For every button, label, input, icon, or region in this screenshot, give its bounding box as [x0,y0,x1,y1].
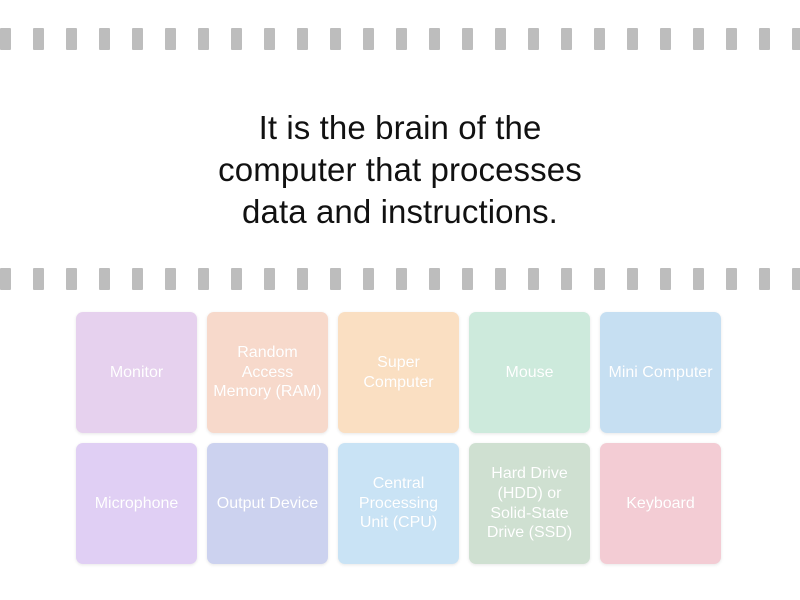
answer-tile[interactable]: Super Computer [338,312,459,433]
dash-segment [528,268,539,290]
dash-segment [33,268,44,290]
answer-tile-row-1: Monitor Random Access Memory (RAM) Super… [76,312,724,433]
dash-segment [33,28,44,50]
perforation-strip-middle [0,268,800,290]
dash-segment [627,268,638,290]
answer-tile[interactable]: Keyboard [600,443,721,564]
dash-segment [0,28,11,50]
dash-segment [363,28,374,50]
answer-tile-label: Keyboard [606,494,715,514]
answer-tile[interactable]: Output Device [207,443,328,564]
dash-segment [297,28,308,50]
answer-tile-label: Monitor [82,363,191,383]
dash-segment [330,268,341,290]
dash-segment [495,268,506,290]
dash-segment [561,28,572,50]
dash-segment [462,268,473,290]
dash-segment [693,28,704,50]
dash-segment [660,28,671,50]
dash-segment [264,268,275,290]
dash-segment [462,28,473,50]
dash-segment [66,28,77,50]
answer-tile-label: Mini Computer [606,363,715,383]
dash-segment [594,28,605,50]
answer-tile-label: Output Device [213,494,322,514]
answer-tile-label: Microphone [82,494,191,514]
dash-segment [495,28,506,50]
dash-segment [99,268,110,290]
dash-segment [165,268,176,290]
dash-segment [759,28,770,50]
dash-segment [132,268,143,290]
answer-tile[interactable]: Mini Computer [600,312,721,433]
dash-segment [198,268,209,290]
dash-segment [99,28,110,50]
dash-segment [726,268,737,290]
dash-segment [627,28,638,50]
question-prompt-text: It is the brain of the computer that pro… [190,107,610,234]
dash-segment [297,268,308,290]
dash-segment [660,268,671,290]
perforation-strip-top [0,28,800,50]
dash-segment [198,28,209,50]
answer-tile-label: Random Access Memory (RAM) [213,343,322,402]
dash-segment [231,28,242,50]
dash-segment [165,28,176,50]
dash-segment [792,28,800,50]
answer-tile-row-2: Microphone Output Device Central Process… [76,443,724,564]
dash-segment [132,28,143,50]
answer-tile-label: Super Computer [344,353,453,392]
dash-segment [0,268,11,290]
dash-segment [330,28,341,50]
answer-tile[interactable]: Central Processing Unit (CPU) [338,443,459,564]
dash-segment [66,268,77,290]
dash-segment [561,268,572,290]
answer-tile[interactable]: Monitor [76,312,197,433]
dash-segment [396,268,407,290]
answer-tile-label: Hard Drive (HDD) or Solid-State Drive (S… [475,464,584,542]
dash-segment [792,268,800,290]
dash-segment [594,268,605,290]
dash-segment [396,28,407,50]
dash-segment [264,28,275,50]
dash-segment [759,268,770,290]
dash-segment [429,268,440,290]
dash-segment [429,28,440,50]
answer-tile-board: Monitor Random Access Memory (RAM) Super… [76,312,724,564]
answer-tile[interactable]: Microphone [76,443,197,564]
dash-segment [231,268,242,290]
answer-tile[interactable]: Mouse [469,312,590,433]
answer-tile-label: Mouse [475,363,584,383]
answer-tile[interactable]: Random Access Memory (RAM) [207,312,328,433]
answer-tile-label: Central Processing Unit (CPU) [344,474,453,533]
dash-segment [693,268,704,290]
dash-segment [726,28,737,50]
answer-tile[interactable]: Hard Drive (HDD) or Solid-State Drive (S… [469,443,590,564]
dash-segment [528,28,539,50]
dash-segment [363,268,374,290]
question-prompt-area: It is the brain of the computer that pro… [0,80,800,260]
